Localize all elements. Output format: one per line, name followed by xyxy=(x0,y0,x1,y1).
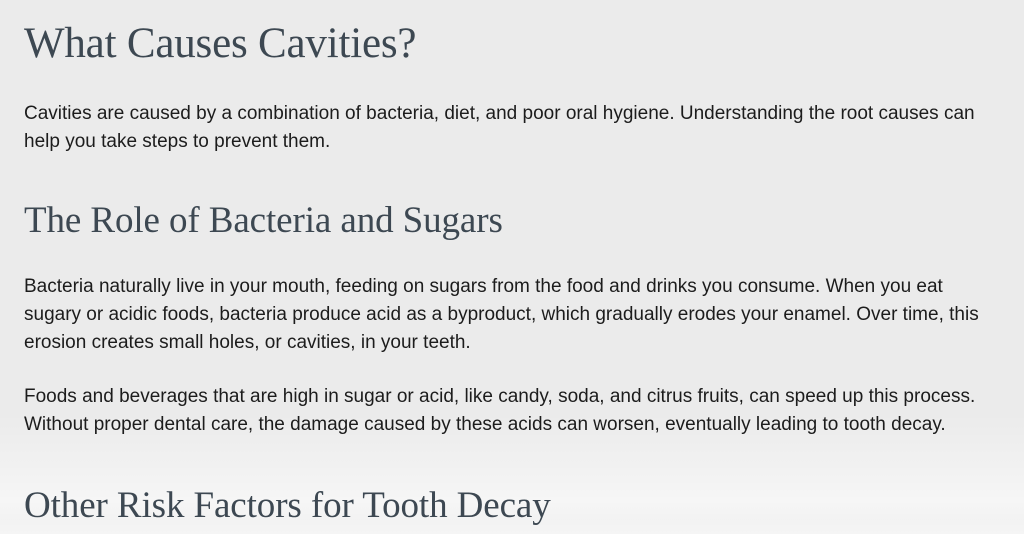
article-page: What Causes Cavities? Cavities are cause… xyxy=(0,0,1024,534)
page-title: What Causes Cavities? xyxy=(24,0,1000,68)
section-paragraph: Bacteria naturally live in your mouth, f… xyxy=(24,242,1000,357)
section-paragraph: Foods and beverages that are high in sug… xyxy=(24,357,1000,439)
intro-paragraph: Cavities are caused by a combination of … xyxy=(24,68,1000,156)
section-heading-other-risk-factors: Other Risk Factors for Tooth Decay xyxy=(24,439,1000,527)
article-content: What Causes Cavities? Cavities are cause… xyxy=(0,0,1024,528)
section-heading-bacteria-and-sugars: The Role of Bacteria and Sugars xyxy=(24,156,1000,242)
